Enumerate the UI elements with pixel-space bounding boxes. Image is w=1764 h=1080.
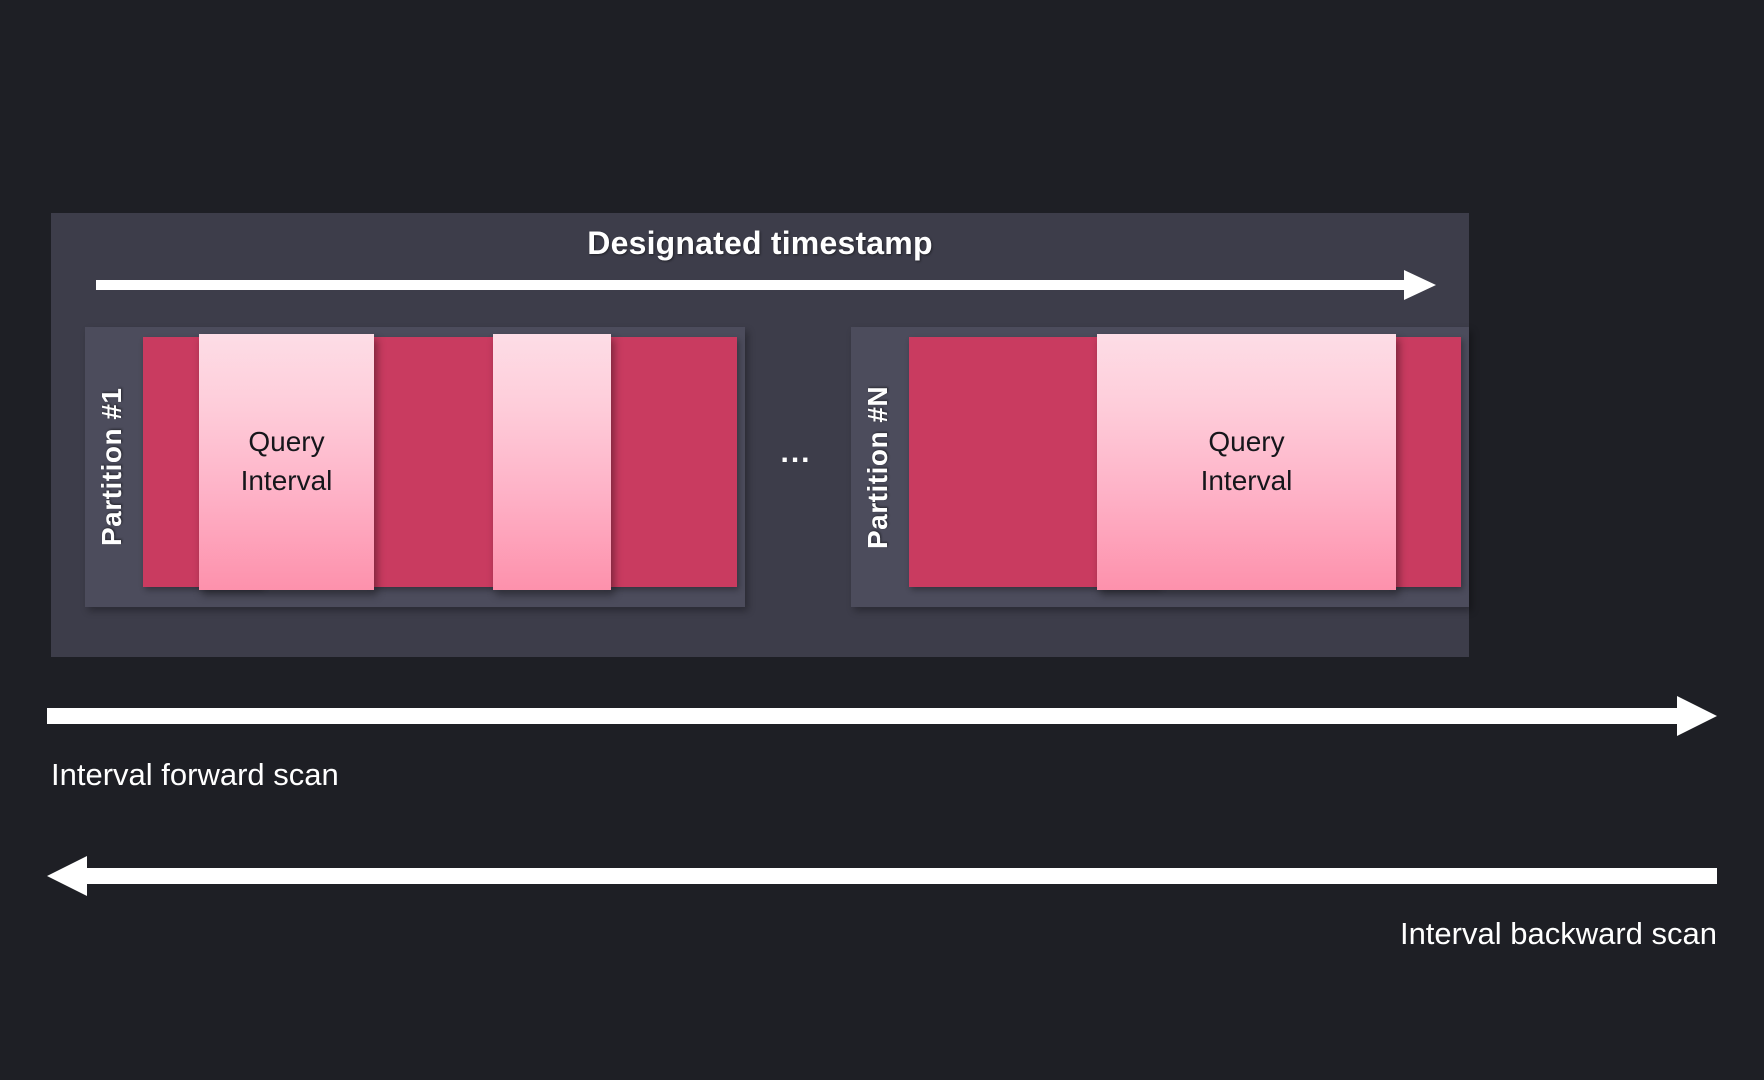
partition-group-n: Partition #N Query Interval xyxy=(851,327,1469,607)
partition-1-label: Partition #1 xyxy=(89,327,135,607)
dense-block xyxy=(371,337,496,587)
query-interval-label: Query Interval xyxy=(241,423,333,500)
partition-1-bar-track: Query Interval xyxy=(143,337,737,587)
dense-block xyxy=(1393,337,1461,587)
partition-group-1: Partition #1 Query Interval xyxy=(85,327,745,607)
query-interval-label: Query Interval xyxy=(1201,423,1293,500)
designated-timestamp-panel: Designated timestamp Partition #1 Query … xyxy=(51,213,1469,657)
partition-n-label: Partition #N xyxy=(855,327,901,607)
interval-backward-scan-label: Interval backward scan xyxy=(1400,916,1717,952)
interval-forward-scan-label: Interval forward scan xyxy=(51,757,339,793)
query-interval-block[interactable]: Query Interval xyxy=(1097,334,1396,590)
partitions-ellipsis: ... xyxy=(756,438,836,468)
page-title: Designated timestamp xyxy=(51,225,1469,262)
partition-n-bar-track: Query Interval xyxy=(909,337,1461,587)
query-interval-block[interactable]: Query Interval xyxy=(199,334,374,590)
dense-block xyxy=(608,337,737,587)
timestamp-direction-arrow xyxy=(96,270,1436,300)
interval-forward-scan-arrow xyxy=(47,696,1717,736)
diagram-canvas: Designated timestamp Partition #1 Query … xyxy=(0,0,1764,1080)
query-interval-block[interactable] xyxy=(493,334,611,590)
interval-backward-scan-arrow xyxy=(40,856,1717,896)
